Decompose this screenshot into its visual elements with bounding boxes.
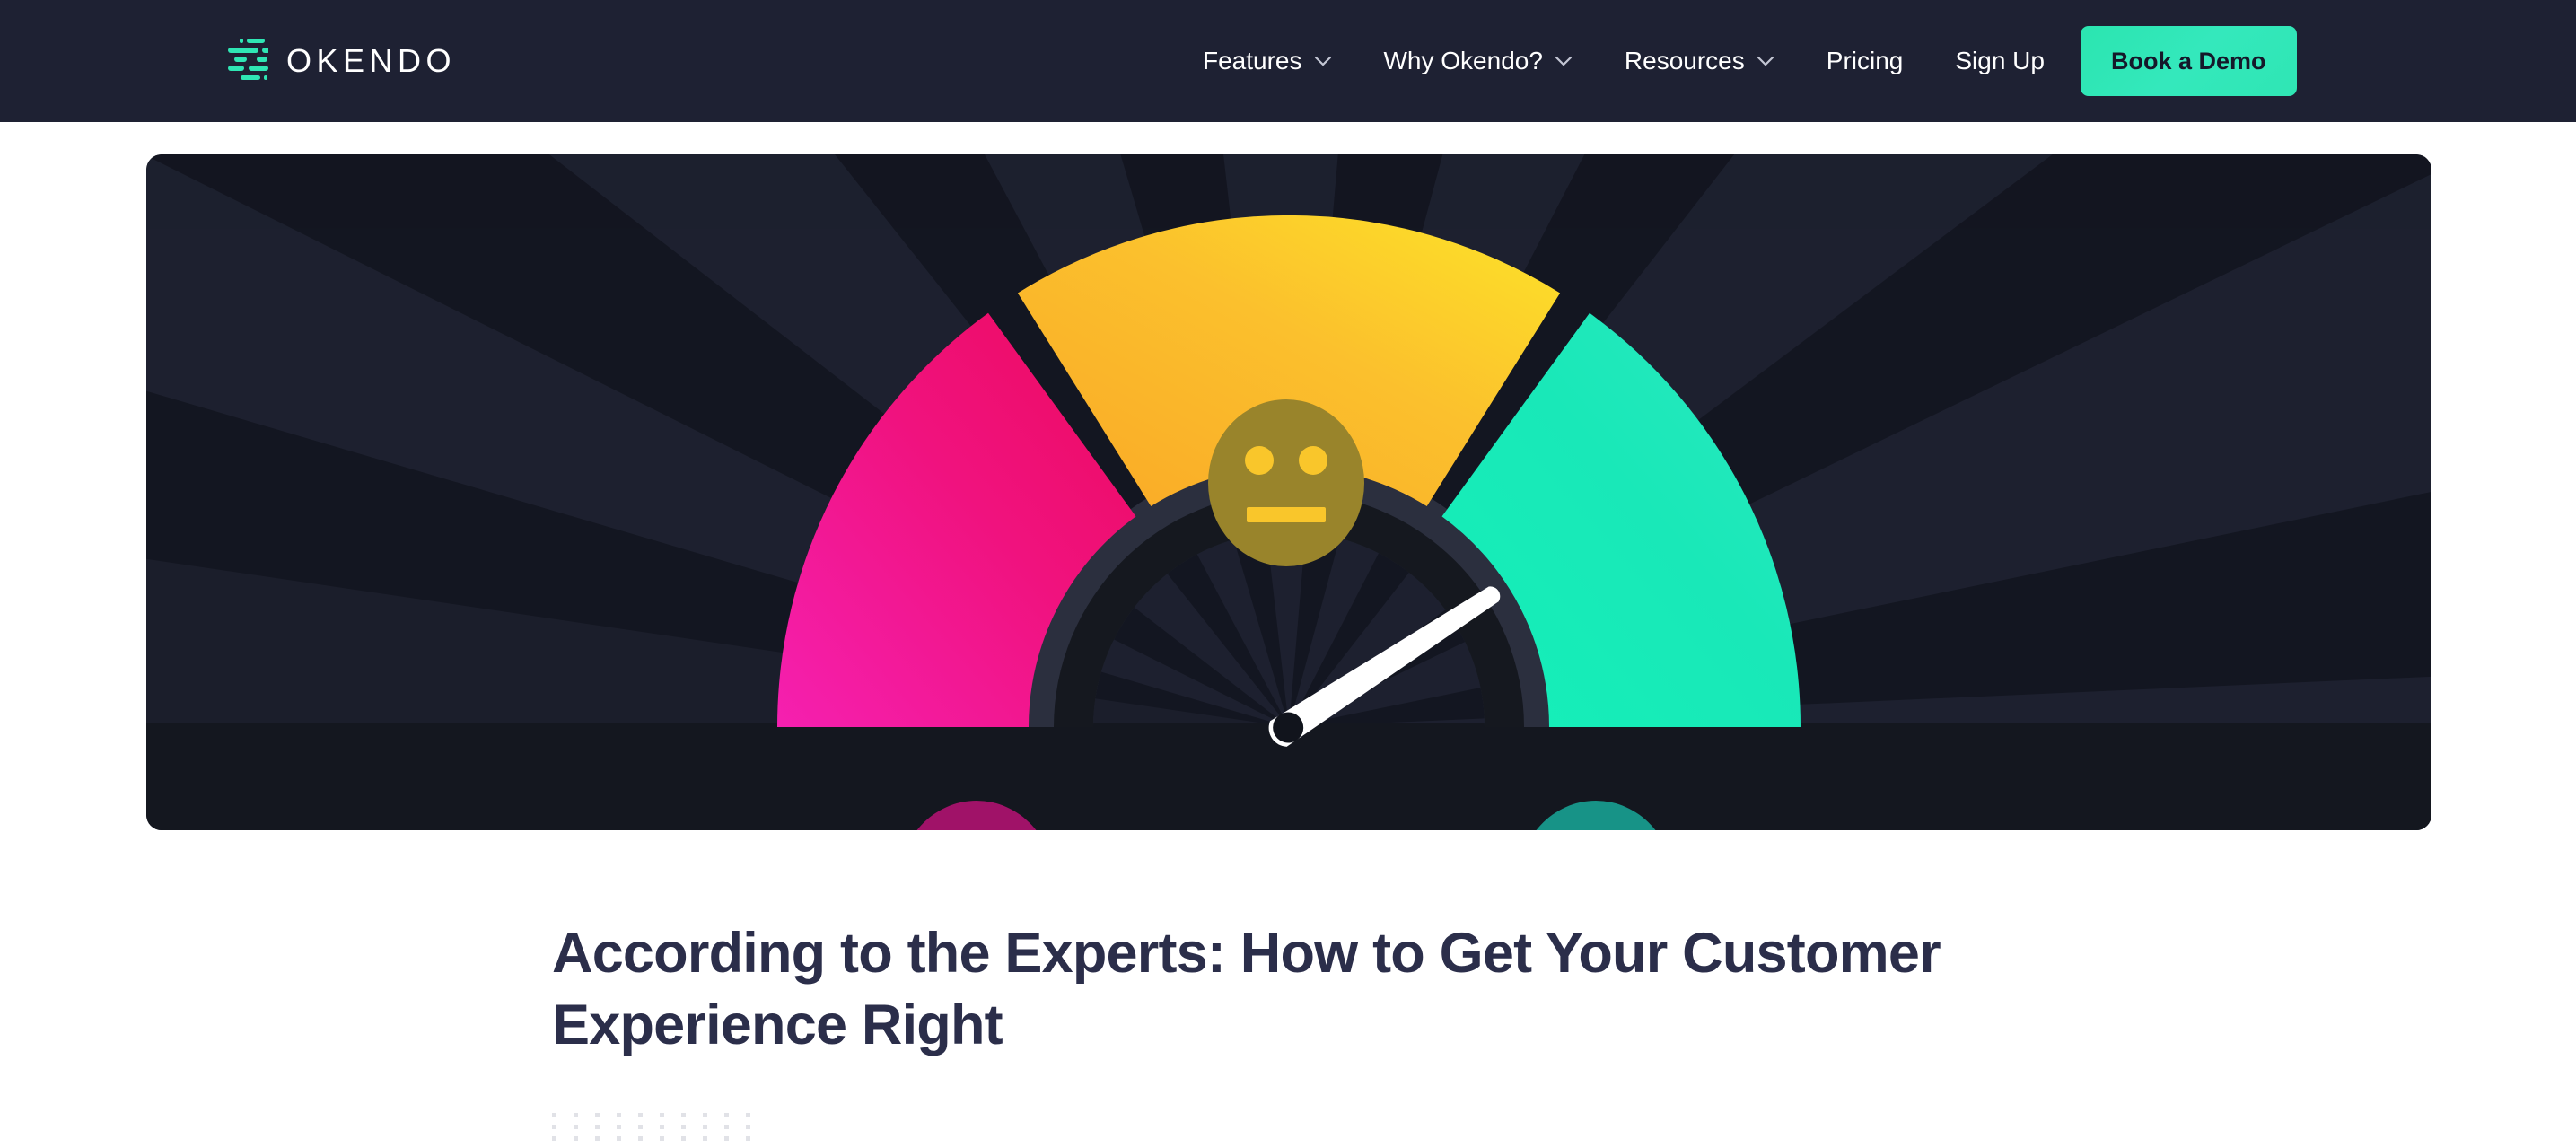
- chevron-down-icon: [1314, 56, 1332, 66]
- neutral-face-icon: [1208, 399, 1364, 566]
- nav-item-sign-up[interactable]: Sign Up: [1955, 34, 2045, 88]
- page-title: According to the Experts: How to Get You…: [552, 917, 2078, 1061]
- dot-grid-decoration: [552, 1113, 767, 1144]
- brand-logo-link[interactable]: OKENDO: [227, 38, 456, 84]
- main-navigation: Features Why Okendo? Resources: [1203, 26, 2297, 96]
- book-a-demo-button[interactable]: Book a Demo: [2081, 26, 2297, 96]
- chevron-down-icon: [1555, 56, 1573, 66]
- chevron-down-icon: [1757, 56, 1774, 66]
- site-header: OKENDO Features Why Okendo? Resources: [0, 0, 2576, 122]
- nav-item-label: Features: [1203, 47, 1302, 75]
- nav-item-why-okendo[interactable]: Why Okendo?: [1384, 34, 1573, 88]
- nav-item-label: Sign Up: [1955, 47, 2045, 75]
- article-header: According to the Experts: How to Get You…: [552, 917, 2078, 1061]
- nav-item-label: Why Okendo?: [1384, 47, 1543, 75]
- brand-name: OKENDO: [286, 42, 456, 80]
- okendo-bars-logo-icon: [227, 38, 268, 84]
- nav-item-features[interactable]: Features: [1203, 34, 1332, 88]
- nav-item-pricing[interactable]: Pricing: [1827, 34, 1904, 88]
- nav-item-label: Resources: [1625, 47, 1745, 75]
- nav-item-resources[interactable]: Resources: [1625, 34, 1774, 88]
- hero-featured-image: [146, 154, 2431, 830]
- nav-item-label: Pricing: [1827, 47, 1904, 75]
